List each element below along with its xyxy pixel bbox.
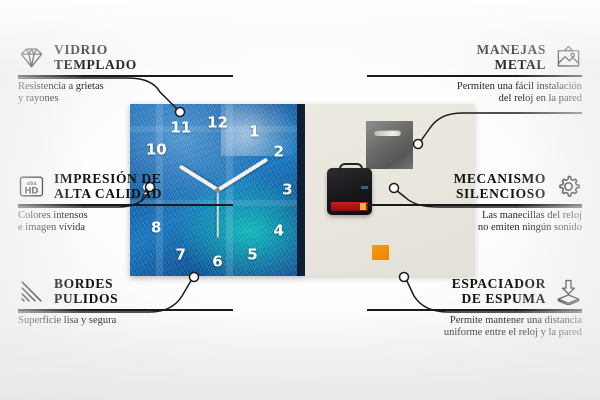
callout-rule (18, 204, 233, 206)
callout-impresion-alta-calidad[interactable]: ultra HD IMPRESIÓN DEALTA CALIDAD Colore… (18, 171, 233, 235)
callout-rule (367, 309, 582, 311)
callout-bordes-pulidos[interactable]: BORDESPULIDOS Superficie lisa y segura (18, 276, 233, 327)
clock-number-10: 10 (146, 143, 167, 158)
quartz-mechanism (327, 168, 372, 215)
callout-title: IMPRESIÓN DEALTA CALIDAD (54, 171, 162, 201)
callout-rule (367, 204, 582, 206)
infographic-canvas: 12 1 2 3 4 5 6 7 8 9 10 11 (0, 0, 600, 400)
foam-spacer (372, 245, 389, 260)
callout-description: Permiten una fácil instalacióndel reloj … (367, 81, 582, 106)
clock-number-2: 2 (274, 145, 284, 160)
hanger-slot (374, 130, 401, 136)
clock-number-5: 5 (247, 248, 257, 263)
callout-description: Colores intensose imagen vívida (18, 210, 233, 235)
callout-vidrio-templado[interactable]: VIDRIOTEMPLADO Resistencia a grietasy ra… (18, 42, 233, 106)
clock-number-4: 4 (274, 224, 284, 239)
callout-title: MANEJASMETAL (477, 42, 546, 72)
diamond-icon (18, 44, 45, 71)
gear-icon (555, 173, 582, 200)
clock-side-edge (297, 104, 305, 276)
callout-rule (18, 75, 233, 77)
clock-number-1: 1 (249, 125, 259, 140)
callout-description: Resistencia a grietasy rayones (18, 81, 233, 106)
callout-title: ESPACIADORDE ESPUMA (452, 276, 546, 306)
callout-manejas-metal[interactable]: MANEJASMETAL Permiten una fácil instalac… (367, 42, 582, 106)
glass-glare (221, 104, 302, 156)
polished-edge-icon (18, 278, 45, 305)
callout-description: Permite mantener una distanciauniforme e… (367, 315, 582, 340)
ultra-hd-large-text: HD (25, 185, 39, 195)
picture-frame-icon (555, 44, 582, 71)
callout-mecanismo-silencioso[interactable]: MECANISMOSILENCIOSO Las manecillas del r… (367, 171, 582, 235)
foam-spacer-icon (555, 278, 582, 305)
callout-rule (18, 309, 233, 311)
clock-number-3: 3 (282, 183, 292, 198)
callout-title: MECANISMOSILENCIOSO (454, 171, 546, 201)
callout-title: VIDRIOTEMPLADO (54, 42, 137, 72)
battery (331, 202, 368, 211)
callout-description: Las manecillas del relojno emiten ningún… (367, 210, 582, 235)
clock-number-12: 12 (207, 116, 228, 131)
clock-number-11: 11 (170, 121, 191, 136)
callout-title: BORDESPULIDOS (54, 276, 118, 306)
callout-espaciador-espuma[interactable]: ESPACIADORDE ESPUMA Permite mantener una… (367, 276, 582, 340)
mechanism-hook (339, 163, 363, 173)
metal-hanger (366, 121, 413, 169)
clock-number-6: 6 (212, 255, 222, 270)
clock-number-7: 7 (176, 248, 186, 263)
callout-description: Superficie lisa y segura (18, 315, 233, 328)
ultra-hd-icon: ultra HD (18, 173, 45, 200)
callout-rule (367, 75, 582, 77)
